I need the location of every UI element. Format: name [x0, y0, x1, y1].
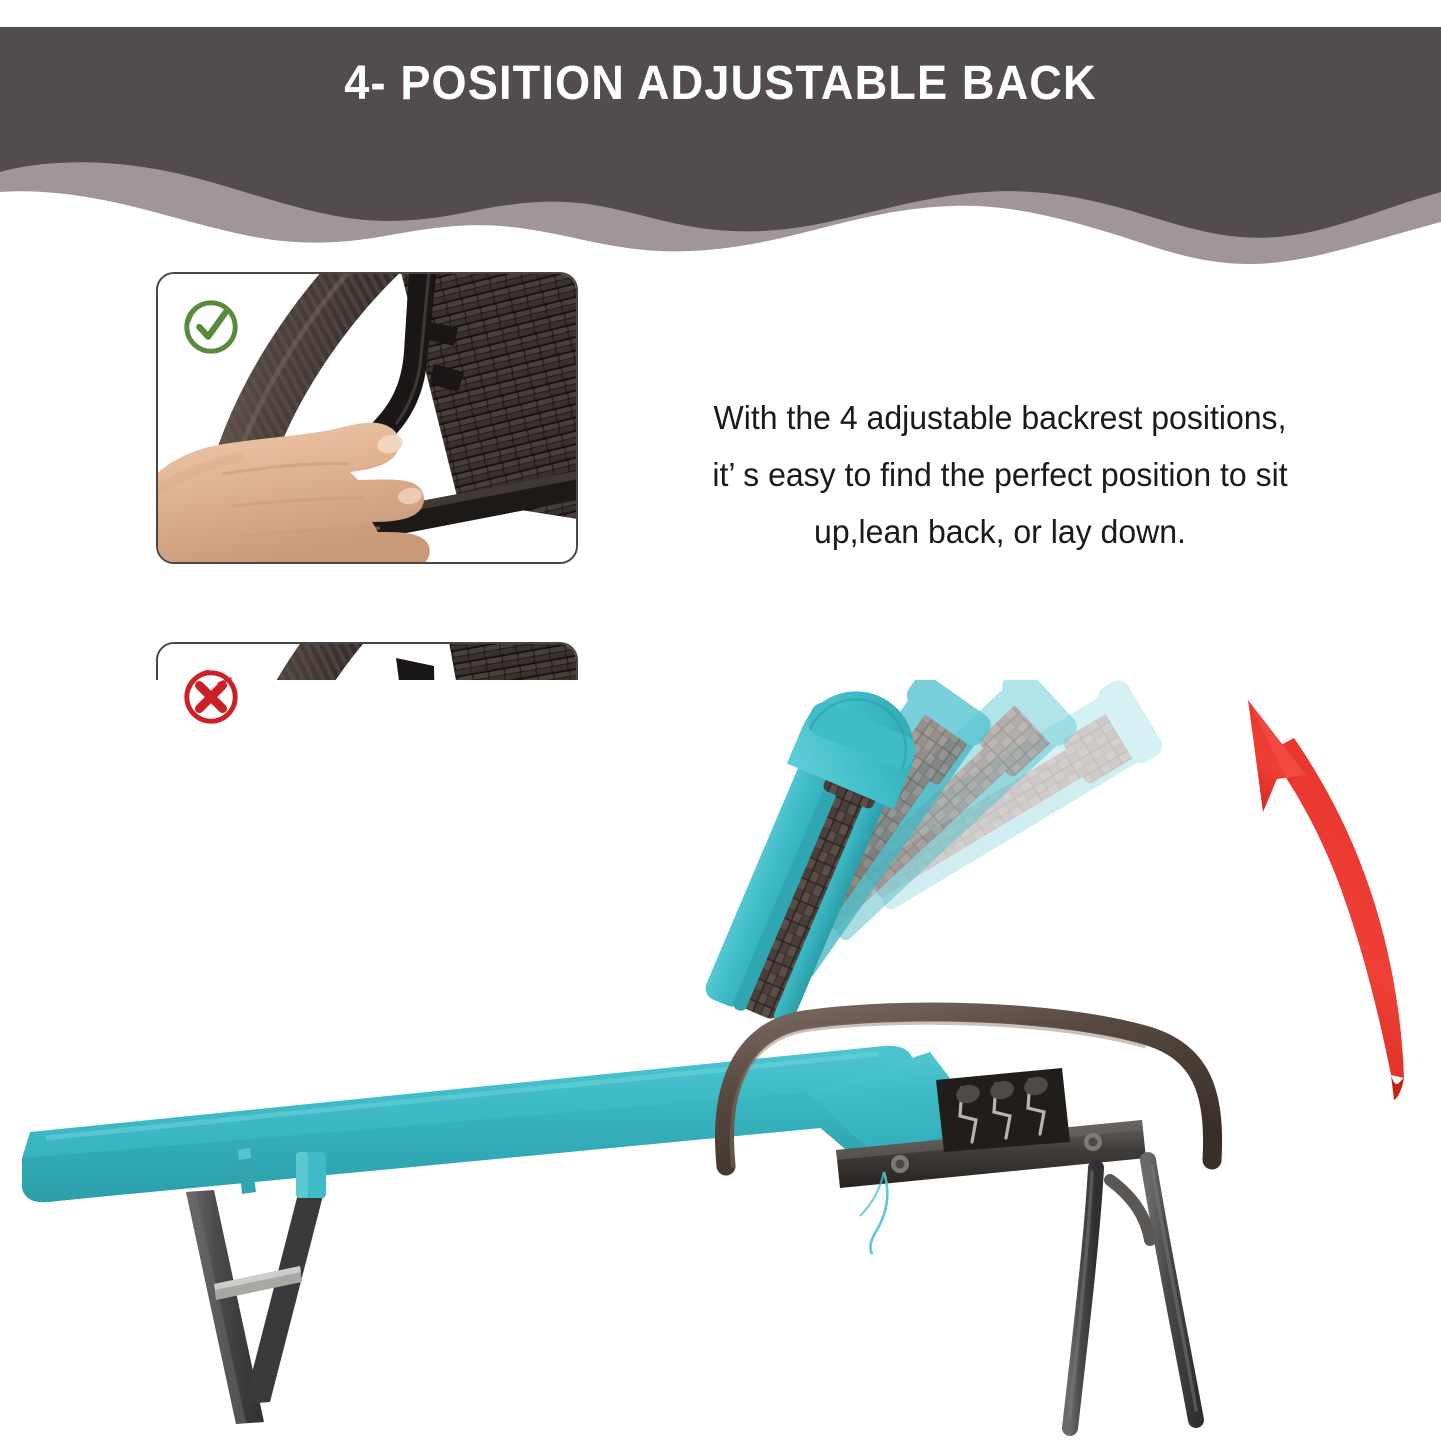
- recline-ratchet-mechanism: [936, 1068, 1070, 1152]
- product-description: With the 4 adjustable backrest positions…: [612, 390, 1388, 560]
- page-title: 4- POSITION ADJUSTABLE BACK: [43, 58, 1398, 111]
- product-illustration: [0, 680, 1441, 1441]
- header-banner: 4- POSITION ADJUSTABLE BACK: [0, 0, 1441, 280]
- instruction-panel-correct: [156, 272, 578, 564]
- chaise-lounge-graphic: [0, 680, 1441, 1441]
- check-circle-icon: [180, 296, 242, 358]
- description-line-1: With the 4 adjustable backrest positions…: [612, 390, 1388, 447]
- description-line-3: up,lean back, or lay down.: [612, 504, 1388, 561]
- header-wave-graphic: [0, 0, 1441, 280]
- description-line-2: it’ s easy to find the perfect position …: [612, 447, 1388, 504]
- x-circle-icon: [180, 666, 242, 728]
